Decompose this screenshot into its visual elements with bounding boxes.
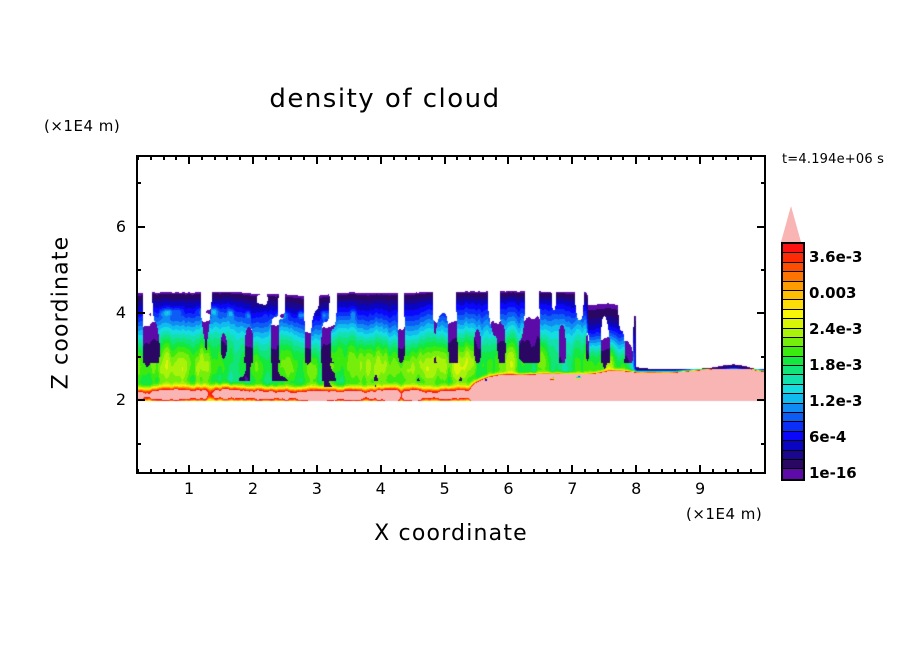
y-axis-minor-tick (136, 182, 141, 184)
colorbar-band (783, 432, 803, 441)
x-axis-minor-tick (725, 469, 727, 474)
colorbar-band (783, 291, 803, 300)
x-axis-minor-tick (533, 155, 535, 160)
x-axis-major-tick (316, 465, 318, 474)
colorbar-band (783, 263, 803, 272)
x-axis-minor-tick (354, 155, 356, 160)
colorbar-tick-label: 1e-16 (809, 464, 857, 482)
x-axis-minor-tick (674, 155, 676, 160)
colorbar-band (783, 451, 803, 460)
x-axis-minor-tick (622, 469, 624, 474)
x-axis-minor-tick (393, 469, 395, 474)
x-axis-minor-tick (418, 155, 420, 160)
x-axis-tick-label: 3 (297, 479, 337, 498)
x-axis-minor-tick (278, 469, 280, 474)
x-axis-tick-label: 8 (616, 479, 656, 498)
x-axis-major-tick (188, 465, 190, 474)
cloud-density-field (138, 157, 764, 472)
x-axis-minor-tick (290, 155, 292, 160)
x-axis-minor-tick (648, 155, 650, 160)
colorbar-band (783, 319, 803, 328)
y-axis-major-tick (136, 312, 145, 314)
x-axis-major-tick (380, 465, 382, 474)
y-axis-major-tick (757, 399, 766, 401)
x-axis-major-tick (635, 465, 637, 474)
colorbar-band (783, 441, 803, 450)
x-axis-minor-tick (686, 469, 688, 474)
x-axis-minor-tick (405, 469, 407, 474)
x-axis-minor-tick (674, 469, 676, 474)
x-axis-tick-label: 4 (361, 479, 401, 498)
x-axis-minor-tick (469, 469, 471, 474)
y-axis-minor-tick (761, 182, 766, 184)
colorbar-tick-label: 1.8e-3 (809, 356, 862, 374)
y-axis-major-tick (136, 399, 145, 401)
colorbar-band (783, 253, 803, 262)
x-axis-minor-tick (239, 469, 241, 474)
x-axis-major-tick (699, 465, 701, 474)
x-axis-minor-tick (367, 469, 369, 474)
y-axis-minor-tick (136, 269, 141, 271)
x-axis-minor-tick (201, 155, 203, 160)
colorbar-bands[interactable] (781, 242, 805, 481)
x-axis-minor-tick (163, 155, 165, 160)
x-axis-minor-tick (290, 469, 292, 474)
x-axis-minor-tick (520, 155, 522, 160)
x-axis-minor-tick (175, 155, 177, 160)
x-axis-minor-tick (725, 155, 727, 160)
x-axis-major-tick (507, 155, 509, 164)
x-axis-minor-tick (367, 155, 369, 160)
x-axis-minor-tick (559, 155, 561, 160)
x-axis-major-tick (571, 465, 573, 474)
x-axis-minor-tick (278, 155, 280, 160)
x-axis-minor-tick (469, 155, 471, 160)
x-axis-minor-tick (495, 469, 497, 474)
x-axis-minor-tick (648, 469, 650, 474)
x-axis-minor-tick (546, 469, 548, 474)
x-axis-minor-tick (214, 469, 216, 474)
colorbar[interactable]: 3.6e-30.0032.4e-31.8e-31.2e-36e-41e-16 (779, 206, 903, 481)
y-axis-tick-label: 2 (92, 390, 126, 409)
colorbar-band (783, 413, 803, 422)
x-axis-minor-tick (610, 155, 612, 160)
x-axis-tick-label: 6 (488, 479, 528, 498)
colorbar-band (783, 329, 803, 338)
x-axis-minor-tick (597, 155, 599, 160)
x-axis-minor-tick (750, 469, 752, 474)
x-axis-minor-tick (405, 155, 407, 160)
x-axis-minor-tick (137, 469, 139, 474)
colorbar-band (783, 282, 803, 291)
x-axis-minor-tick (559, 469, 561, 474)
x-axis-major-tick (635, 155, 637, 164)
x-axis-minor-tick (265, 469, 267, 474)
y-axis-major-tick (757, 226, 766, 228)
x-axis-tick-label: 2 (233, 479, 273, 498)
colorbar-tick-label: 6e-4 (809, 428, 846, 446)
x-axis-minor-tick (546, 155, 548, 160)
colorbar-band (783, 244, 803, 253)
x-axis-major-tick (252, 155, 254, 164)
y-axis-minor-tick (761, 443, 766, 445)
colorbar-band (783, 385, 803, 394)
x-axis-minor-tick (341, 155, 343, 160)
x-axis-unit-label: (×1E4 m) (686, 505, 762, 523)
x-axis-major-tick (316, 155, 318, 164)
x-axis-minor-tick (163, 469, 165, 474)
colorbar-overflow-arrow (781, 206, 801, 242)
y-axis-unit-label: (×1E4 m) (44, 117, 120, 135)
colorbar-band (783, 366, 803, 375)
x-axis-title: X coordinate (136, 521, 766, 546)
x-axis-minor-tick (750, 155, 752, 160)
colorbar-band (783, 300, 803, 309)
colorbar-tick-label: 0.003 (809, 284, 856, 302)
x-axis-minor-tick (431, 469, 433, 474)
x-axis-minor-tick (661, 469, 663, 474)
x-axis-minor-tick (456, 469, 458, 474)
x-axis-minor-tick (584, 469, 586, 474)
x-axis-minor-tick (226, 155, 228, 160)
x-axis-minor-tick (239, 155, 241, 160)
x-axis-tick-label: 9 (680, 479, 720, 498)
x-axis-minor-tick (150, 155, 152, 160)
x-axis-minor-tick (341, 469, 343, 474)
colorbar-band (783, 469, 803, 478)
colorbar-band (783, 347, 803, 356)
x-axis-minor-tick (495, 155, 497, 160)
colorbar-band (783, 394, 803, 403)
x-axis-minor-tick (150, 469, 152, 474)
x-axis-minor-tick (393, 155, 395, 160)
x-axis-minor-tick (737, 155, 739, 160)
x-axis-minor-tick (737, 469, 739, 474)
x-axis-minor-tick (329, 155, 331, 160)
timestamp-label: t=4.194e+06 s (782, 152, 884, 167)
x-axis-minor-tick (201, 469, 203, 474)
x-axis-minor-tick (597, 469, 599, 474)
x-axis-minor-tick (520, 469, 522, 474)
x-axis-tick-label: 7 (552, 479, 592, 498)
x-axis-major-tick (380, 155, 382, 164)
colorbar-band (783, 272, 803, 281)
y-axis-title: Z coordinate (49, 213, 74, 413)
x-axis-minor-tick (610, 469, 612, 474)
x-axis-major-tick (188, 155, 190, 164)
x-axis-major-tick (252, 465, 254, 474)
x-axis-minor-tick (661, 155, 663, 160)
y-axis-minor-tick (761, 269, 766, 271)
y-axis-minor-tick (136, 443, 141, 445)
colorbar-band (783, 338, 803, 347)
x-axis-minor-tick (482, 469, 484, 474)
x-axis-major-tick (699, 155, 701, 164)
x-axis-minor-tick (214, 155, 216, 160)
page-title: density of cloud (0, 84, 770, 114)
colorbar-band (783, 404, 803, 413)
x-axis-minor-tick (137, 155, 139, 160)
x-axis-minor-tick (354, 469, 356, 474)
x-axis-minor-tick (265, 155, 267, 160)
x-axis-minor-tick (418, 469, 420, 474)
x-axis-major-tick (507, 465, 509, 474)
colorbar-band (783, 310, 803, 319)
x-axis-major-tick (444, 155, 446, 164)
x-axis-minor-tick (622, 155, 624, 160)
x-axis-tick-label: 1 (169, 479, 209, 498)
x-axis-minor-tick (175, 469, 177, 474)
x-axis-minor-tick (482, 155, 484, 160)
x-axis-tick-label: 5 (425, 479, 465, 498)
x-axis-minor-tick (686, 155, 688, 160)
x-axis-minor-tick (303, 469, 305, 474)
x-axis-major-tick (444, 465, 446, 474)
x-axis-minor-tick (303, 155, 305, 160)
colorbar-tick-label: 2.4e-3 (809, 320, 862, 338)
heatmap-plot-area[interactable] (138, 157, 764, 472)
colorbar-tick-label: 1.2e-3 (809, 392, 862, 410)
x-axis-minor-tick (431, 155, 433, 160)
x-axis-minor-tick (226, 469, 228, 474)
x-axis-major-tick (571, 155, 573, 164)
y-axis-tick-label: 4 (92, 303, 126, 322)
colorbar-band (783, 375, 803, 384)
colorbar-band (783, 422, 803, 431)
colorbar-band (783, 460, 803, 469)
x-axis-minor-tick (456, 155, 458, 160)
y-axis-minor-tick (761, 356, 766, 358)
y-axis-major-tick (136, 226, 145, 228)
x-axis-minor-tick (712, 155, 714, 160)
x-axis-minor-tick (533, 469, 535, 474)
y-axis-major-tick (757, 312, 766, 314)
colorbar-tick-label: 3.6e-3 (809, 248, 862, 266)
colorbar-band (783, 357, 803, 366)
x-axis-minor-tick (329, 469, 331, 474)
y-axis-tick-label: 6 (92, 217, 126, 236)
y-axis-minor-tick (136, 356, 141, 358)
x-axis-minor-tick (712, 469, 714, 474)
x-axis-minor-tick (584, 155, 586, 160)
